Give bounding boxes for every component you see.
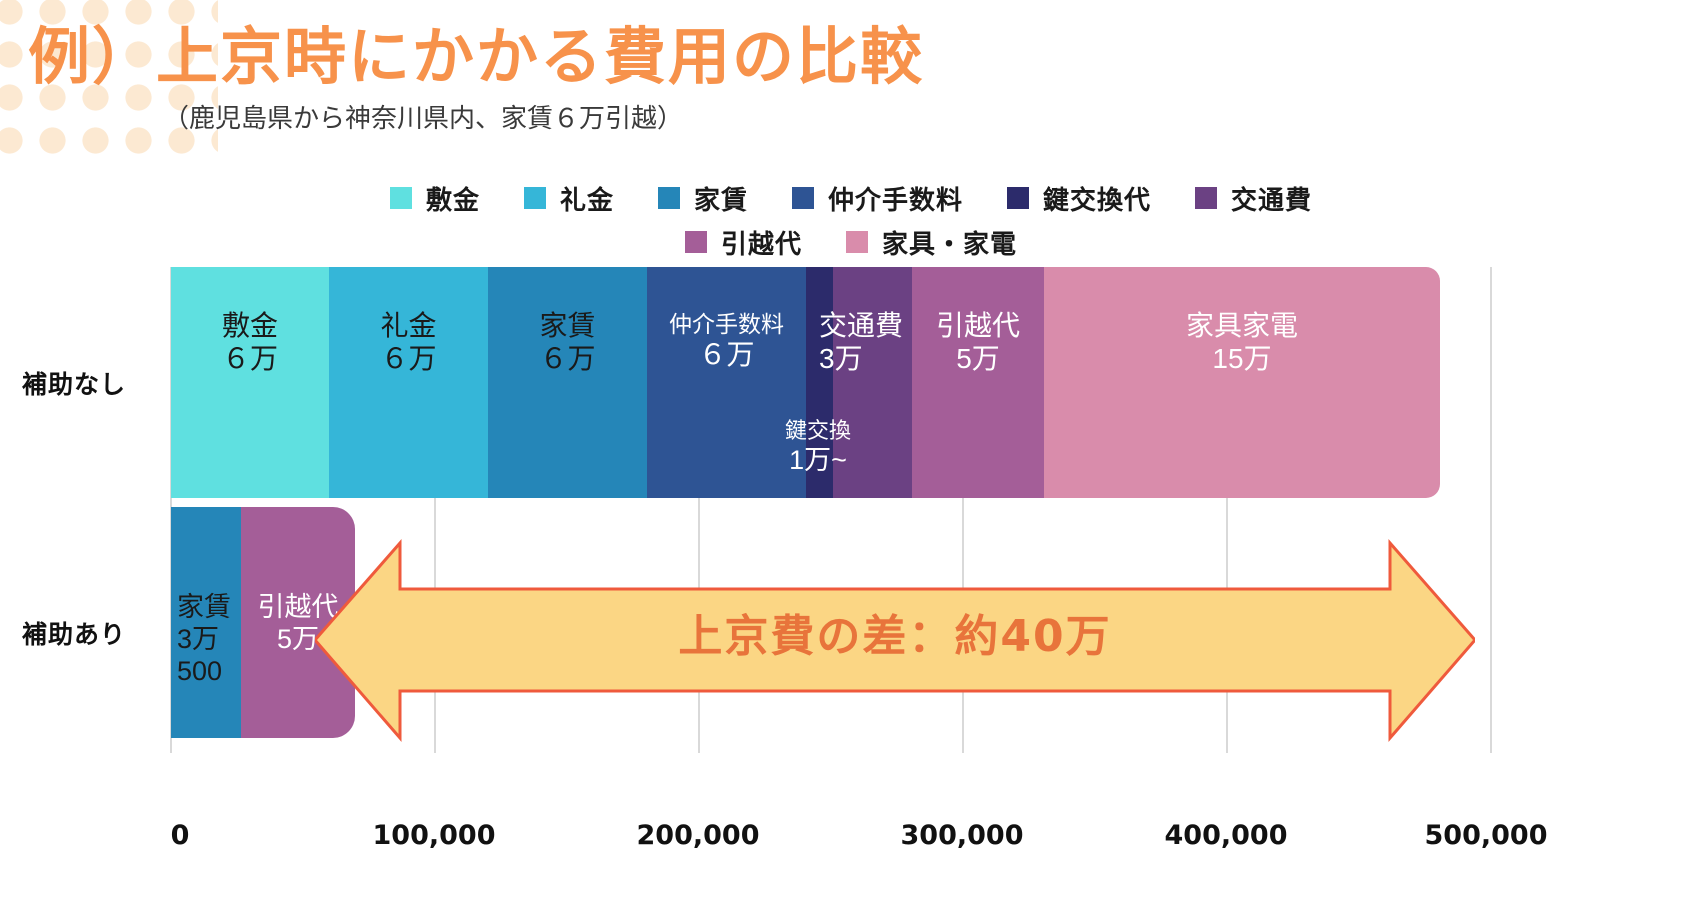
segment-value: ６万	[647, 338, 806, 371]
legend-item-chukai-tesuryo[interactable]: 仲介手数料	[792, 180, 963, 217]
x-axis-tick-1: 100,000	[373, 820, 496, 851]
bar-segment-chukai-tesuryo[interactable]: 仲介手数料 ６万	[647, 267, 806, 498]
x-axis-tick-2: 200,000	[637, 820, 760, 851]
legend-label: 引越代	[721, 224, 802, 261]
legend-swatch-icon	[524, 187, 546, 209]
legend-swatch-icon	[792, 187, 814, 209]
segment-value: ６万	[171, 342, 329, 375]
legend-label: 鍵交換代	[1043, 180, 1151, 217]
x-axis-tick-4: 400,000	[1165, 820, 1288, 851]
gridline	[1490, 267, 1492, 753]
bar-segment-yachin-subsidy[interactable]: 家賃 3万 500	[171, 507, 241, 738]
segment-name: 家賃	[488, 309, 647, 342]
legend-swatch-icon	[1007, 187, 1029, 209]
legend-item-kagikoukandai[interactable]: 鍵交換代	[1007, 180, 1151, 217]
segment-value: ６万	[488, 342, 647, 375]
category-label-with-subsidy: 補助あり	[22, 615, 126, 651]
legend-item-yachin[interactable]: 家賃	[658, 180, 748, 217]
segment-name: 仲介手数料	[647, 311, 806, 338]
bar-segment-kagikoukan[interactable]	[806, 267, 833, 498]
segment-value: 5万	[912, 342, 1044, 375]
difference-arrow-icon	[315, 533, 1475, 748]
segment-name: 礼金	[329, 309, 488, 342]
legend-item-shikikin[interactable]: 敷金	[390, 180, 480, 217]
legend-label: 仲介手数料	[828, 180, 963, 217]
bar-segment-hikkoshidai[interactable]: 引越代 5万	[912, 267, 1044, 498]
segment-name: 引越代	[912, 309, 1044, 342]
bar-segment-kagu-kaden[interactable]: 家具家電 15万	[1044, 267, 1440, 498]
segment-name: 家具家電	[1044, 309, 1440, 342]
bar-segment-reikin[interactable]: 礼金 ６万	[329, 267, 488, 498]
legend-label: 礼金	[560, 180, 614, 217]
legend-item-kagu-kaden[interactable]: 家具・家電	[846, 224, 1017, 261]
bar-segment-shikikin[interactable]: 敷金 ６万	[171, 267, 329, 498]
segment-value: 15万	[1044, 342, 1440, 375]
segment-value: ６万	[329, 342, 488, 375]
bar-segment-yachin[interactable]: 家賃 ６万	[488, 267, 647, 498]
legend-row-2: 引越代 家具・家電	[0, 220, 1702, 264]
legend-label: 家賃	[694, 180, 748, 217]
legend-swatch-icon	[846, 231, 868, 253]
legend-label: 交通費	[1231, 180, 1312, 217]
segment-name: 敷金	[171, 309, 329, 342]
x-axis-tick-3: 300,000	[901, 820, 1024, 851]
page-subtitle: （鹿児島県から神奈川県内、家賃６万引越）	[163, 98, 683, 135]
x-axis-tick-5: 500,000	[1425, 820, 1548, 851]
legend-label: 家具・家電	[882, 224, 1017, 261]
legend-swatch-icon	[685, 231, 707, 253]
bar-segment-koutsuhi[interactable]: 交通費 3万	[833, 267, 912, 498]
legend-swatch-icon	[1195, 187, 1217, 209]
page-title: 例）上京時にかかる費用の比較	[28, 6, 924, 96]
legend-swatch-icon	[390, 187, 412, 209]
legend-item-reikin[interactable]: 礼金	[524, 180, 614, 217]
x-axis-tick-0: 0	[171, 820, 190, 851]
legend-row-1: 敷金 礼金 家賃 仲介手数料 鍵交換代 交通費	[0, 176, 1702, 220]
legend-label: 敷金	[426, 180, 480, 217]
legend-swatch-icon	[658, 187, 680, 209]
chart-legend: 敷金 礼金 家賃 仲介手数料 鍵交換代 交通費 引越代 家具・家電	[0, 176, 1702, 264]
category-label-no-subsidy: 補助なし	[22, 365, 126, 401]
legend-item-hikkoshidai[interactable]: 引越代	[685, 224, 802, 261]
stacked-bar-no-subsidy: 敷金 ６万 礼金 ６万 家賃 ６万 仲介手数料 ６万 交通費	[171, 267, 1440, 498]
legend-item-koutsuhi[interactable]: 交通費	[1195, 180, 1312, 217]
